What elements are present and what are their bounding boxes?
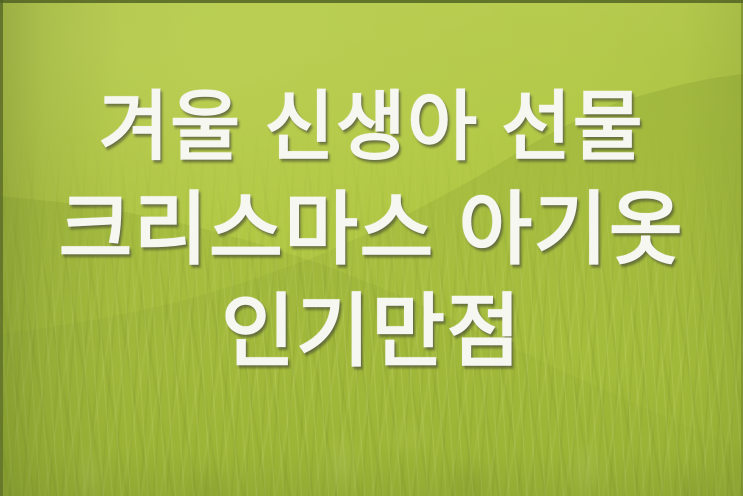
headline-line-3: 인기만점 xyxy=(221,292,522,372)
headline-line-2: 크리스마스 아기옷 xyxy=(59,190,684,270)
headline-line-1: 겨울 신생아 선물 xyxy=(99,90,644,166)
headline-block: 겨울 신생아 선물 크리스마스 아기옷 인기만점 xyxy=(0,0,743,496)
promo-banner: 겨울 신생아 선물 크리스마스 아기옷 인기만점 xyxy=(0,0,743,496)
